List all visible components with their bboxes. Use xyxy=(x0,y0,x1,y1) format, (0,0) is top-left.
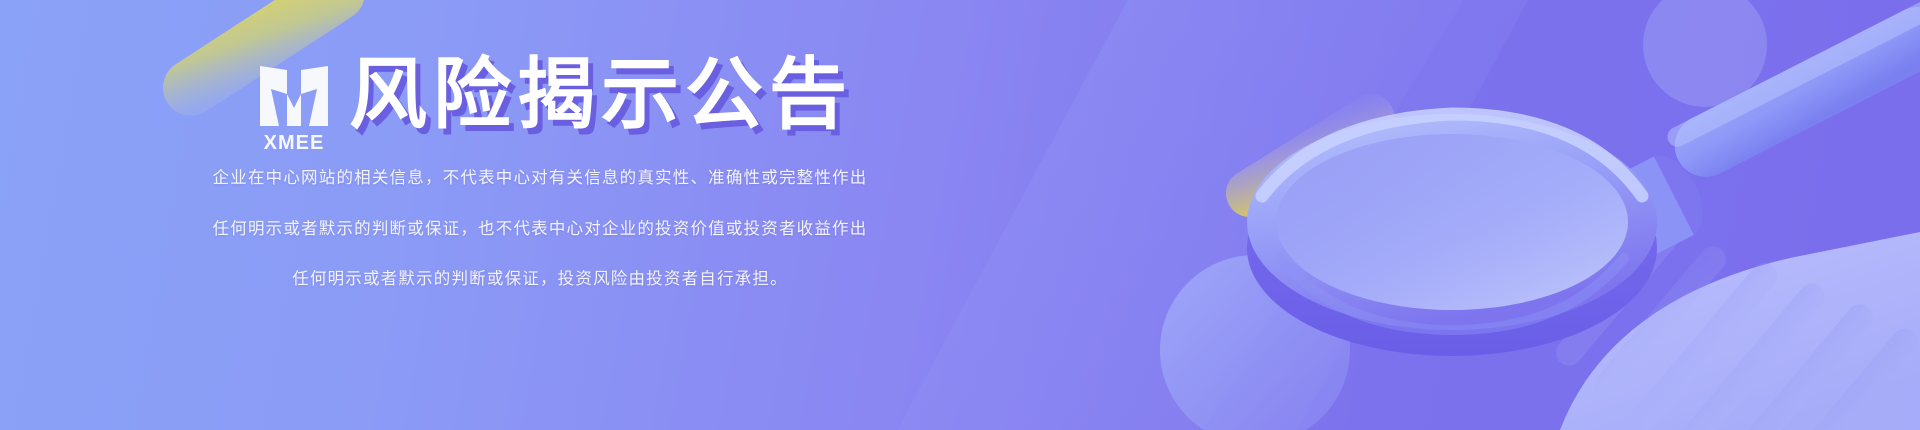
disclaimer-line-1: 企业在中心网站的相关信息，不代表中心对有关信息的真实性、准确性或完整性作出 xyxy=(0,170,1080,187)
xmee-wordmark: XMEE xyxy=(264,133,325,153)
banner-content: XMEE 风险揭示公告 企业在中心网站的相关信息，不代表中心对有关信息的真实性、… xyxy=(0,0,1080,430)
xmee-logo: XMEE xyxy=(255,64,333,156)
disclaimer-line-3: 任何明示或者默示的判断或保证，投资风险由投资者自行承担。 xyxy=(0,271,1080,288)
disclaimer-line-2: 任何明示或者默示的判断或保证，也不代表中心对企业的投资价值或投资者收益作出 xyxy=(0,221,1080,238)
page-title: 风险揭示公告 xyxy=(349,56,853,136)
lens-glass xyxy=(1276,134,1628,310)
xmee-crown-logo-icon xyxy=(257,64,331,128)
disclaimer-text: 企业在中心网站的相关信息，不代表中心对有关信息的真实性、准确性或完整性作出 任何… xyxy=(0,170,1080,288)
risk-disclosure-banner: XMEE 风险揭示公告 企业在中心网站的相关信息，不代表中心对有关信息的真实性、… xyxy=(0,0,1920,430)
